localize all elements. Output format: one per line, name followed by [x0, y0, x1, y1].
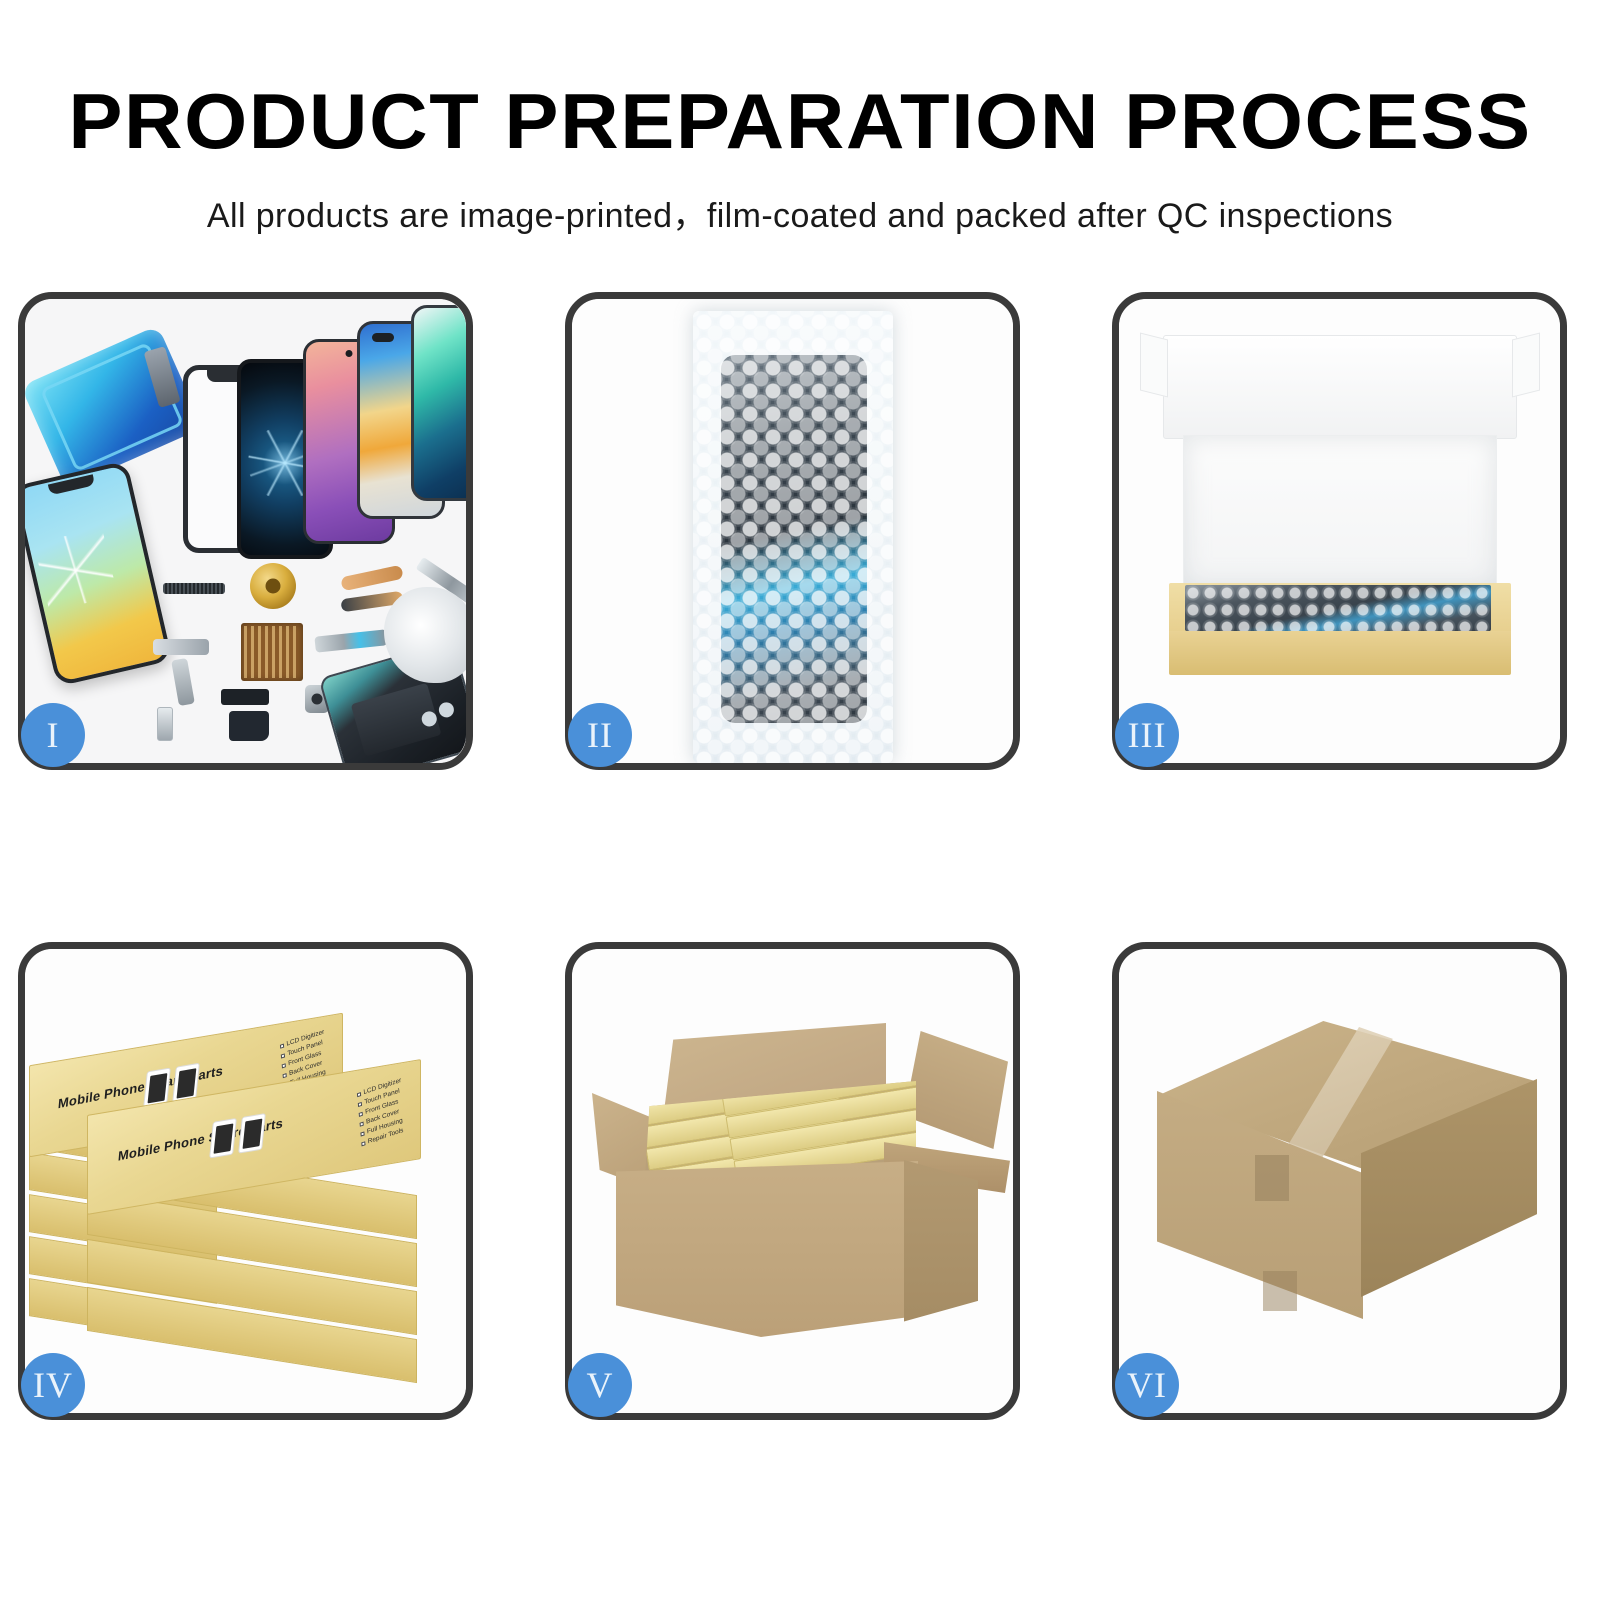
step-panel-5[interactable]: V — [565, 942, 1020, 1420]
phone-notch-icon — [48, 474, 95, 495]
carton-tab-icon — [1263, 1271, 1297, 1311]
white-box-lid-icon — [1163, 335, 1517, 439]
step-panel-1[interactable]: I — [18, 292, 473, 770]
open-retail-box-icon — [1151, 335, 1529, 715]
carton-flap-right-icon — [904, 1031, 1008, 1149]
step-6-image — [1119, 949, 1560, 1413]
sim-tray-icon — [157, 707, 173, 741]
teal-screen-phone-icon — [411, 305, 466, 501]
retail-box-checklist: LCD Digitizer Touch Panel Front Glass Ba… — [356, 1076, 406, 1150]
carton-tab-icon — [1255, 1155, 1289, 1201]
speaker-module-icon — [229, 711, 269, 741]
small-flex-icon — [171, 658, 195, 706]
ic-chip-icon — [241, 623, 303, 681]
step-badge-2: II — [568, 703, 632, 767]
step-badge-4: IV — [21, 1353, 85, 1417]
product-photo — [238, 1113, 266, 1154]
checkbox-icon — [360, 1131, 364, 1136]
screen-crack-icon — [33, 527, 117, 611]
small-flex-icon — [153, 639, 209, 655]
checkbox-icon — [281, 1064, 285, 1069]
checkbox-icon — [280, 1044, 284, 1049]
page-title: PRODUCT PREPARATION PROCESS — [0, 0, 1600, 160]
bubble-wrapped-item-icon — [1185, 585, 1491, 631]
process-steps-grid: I II III — [18, 292, 1582, 1457]
open-shipping-carton-icon — [616, 1035, 976, 1365]
step-badge-3: III — [1115, 703, 1179, 767]
infographic-page: PRODUCT PREPARATION PROCESS All products… — [0, 0, 1600, 1600]
checkbox-icon — [282, 1074, 286, 1079]
step-2-image — [572, 299, 1013, 763]
bubble-texture-icon — [693, 311, 893, 763]
taptic-engine-icon — [250, 563, 296, 609]
punch-hole-camera-icon — [346, 350, 353, 357]
step-4-image: Mobile Phone Spare Parts LCD Digitizer T… — [25, 949, 466, 1413]
product-photo — [209, 1118, 237, 1159]
pill-camera-icon — [372, 333, 394, 342]
step-panel-2[interactable]: II — [565, 292, 1020, 770]
step-3-image — [1119, 299, 1560, 763]
gold-box-stacks: Mobile Phone Spare Parts LCD Digitizer T… — [25, 977, 466, 1397]
bubble-wrap-pouch-icon — [693, 311, 893, 763]
step-badge-6: VI — [1115, 1353, 1179, 1417]
checkbox-icon — [358, 1112, 362, 1117]
checkbox-icon — [361, 1141, 365, 1146]
checkbox-icon — [357, 1102, 361, 1107]
step-badge-5: V — [568, 1353, 632, 1417]
step-panel-4[interactable]: Mobile Phone Spare Parts LCD Digitizer T… — [18, 942, 473, 1420]
checkbox-icon — [280, 1054, 284, 1059]
camera-flex-icon — [314, 629, 387, 652]
page-subtitle: All products are image-printed，film-coat… — [0, 160, 1600, 237]
header: PRODUCT PREPARATION PROCESS All products… — [0, 0, 1600, 237]
battery-icon — [351, 683, 442, 757]
checkbox-icon — [357, 1092, 361, 1097]
step-panel-3[interactable]: III — [1112, 292, 1567, 770]
checkbox-icon — [359, 1122, 363, 1127]
black-chip-icon — [221, 689, 269, 705]
step-1-image — [25, 299, 466, 763]
gold-box-front-icon — [1169, 631, 1511, 675]
carton-body-icon — [616, 1161, 918, 1337]
step-5-image — [572, 949, 1013, 1413]
carton-body-side-icon — [904, 1153, 978, 1325]
flex-cable-icon — [340, 565, 404, 592]
speaker-grill-icon — [163, 583, 225, 594]
sealed-shipping-carton-icon — [1145, 1021, 1545, 1343]
foam-padding-icon — [1183, 435, 1497, 587]
retail-box-product-photos — [209, 1113, 266, 1159]
step-panel-6[interactable]: VI — [1112, 942, 1567, 1420]
step-badge-1: I — [21, 703, 85, 767]
camera-lens-icon — [437, 701, 456, 720]
